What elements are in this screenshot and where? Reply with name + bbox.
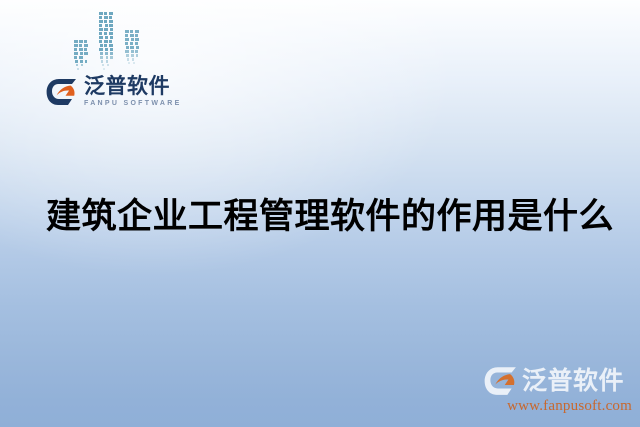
fanpu-watermark-mark-icon	[484, 366, 518, 396]
watermark-logo-row: 泛普软件	[484, 365, 632, 397]
brand-logo: 泛普软件 FANPU SOFTWARE	[46, 76, 182, 107]
watermark-brand-name: 泛普软件	[522, 369, 624, 394]
brand-wordmark: 泛普软件 FANPU SOFTWARE	[84, 76, 182, 107]
slide-canvas: 泛普软件 FANPU SOFTWARE 建筑企业工程管理软件的作用是什么 泛普软…	[0, 0, 640, 427]
watermark-url: www.fanpusoft.com	[484, 398, 632, 415]
fanpu-logo-mark-icon	[46, 78, 78, 106]
page-title: 建筑企业工程管理软件的作用是什么	[46, 196, 606, 239]
brand-name-cn: 泛普软件	[84, 76, 182, 97]
site-watermark: 泛普软件 www.fanpusoft.com	[484, 365, 632, 419]
brand-name-en: FANPU SOFTWARE	[84, 100, 182, 107]
city-skyline-icon	[68, 8, 154, 74]
